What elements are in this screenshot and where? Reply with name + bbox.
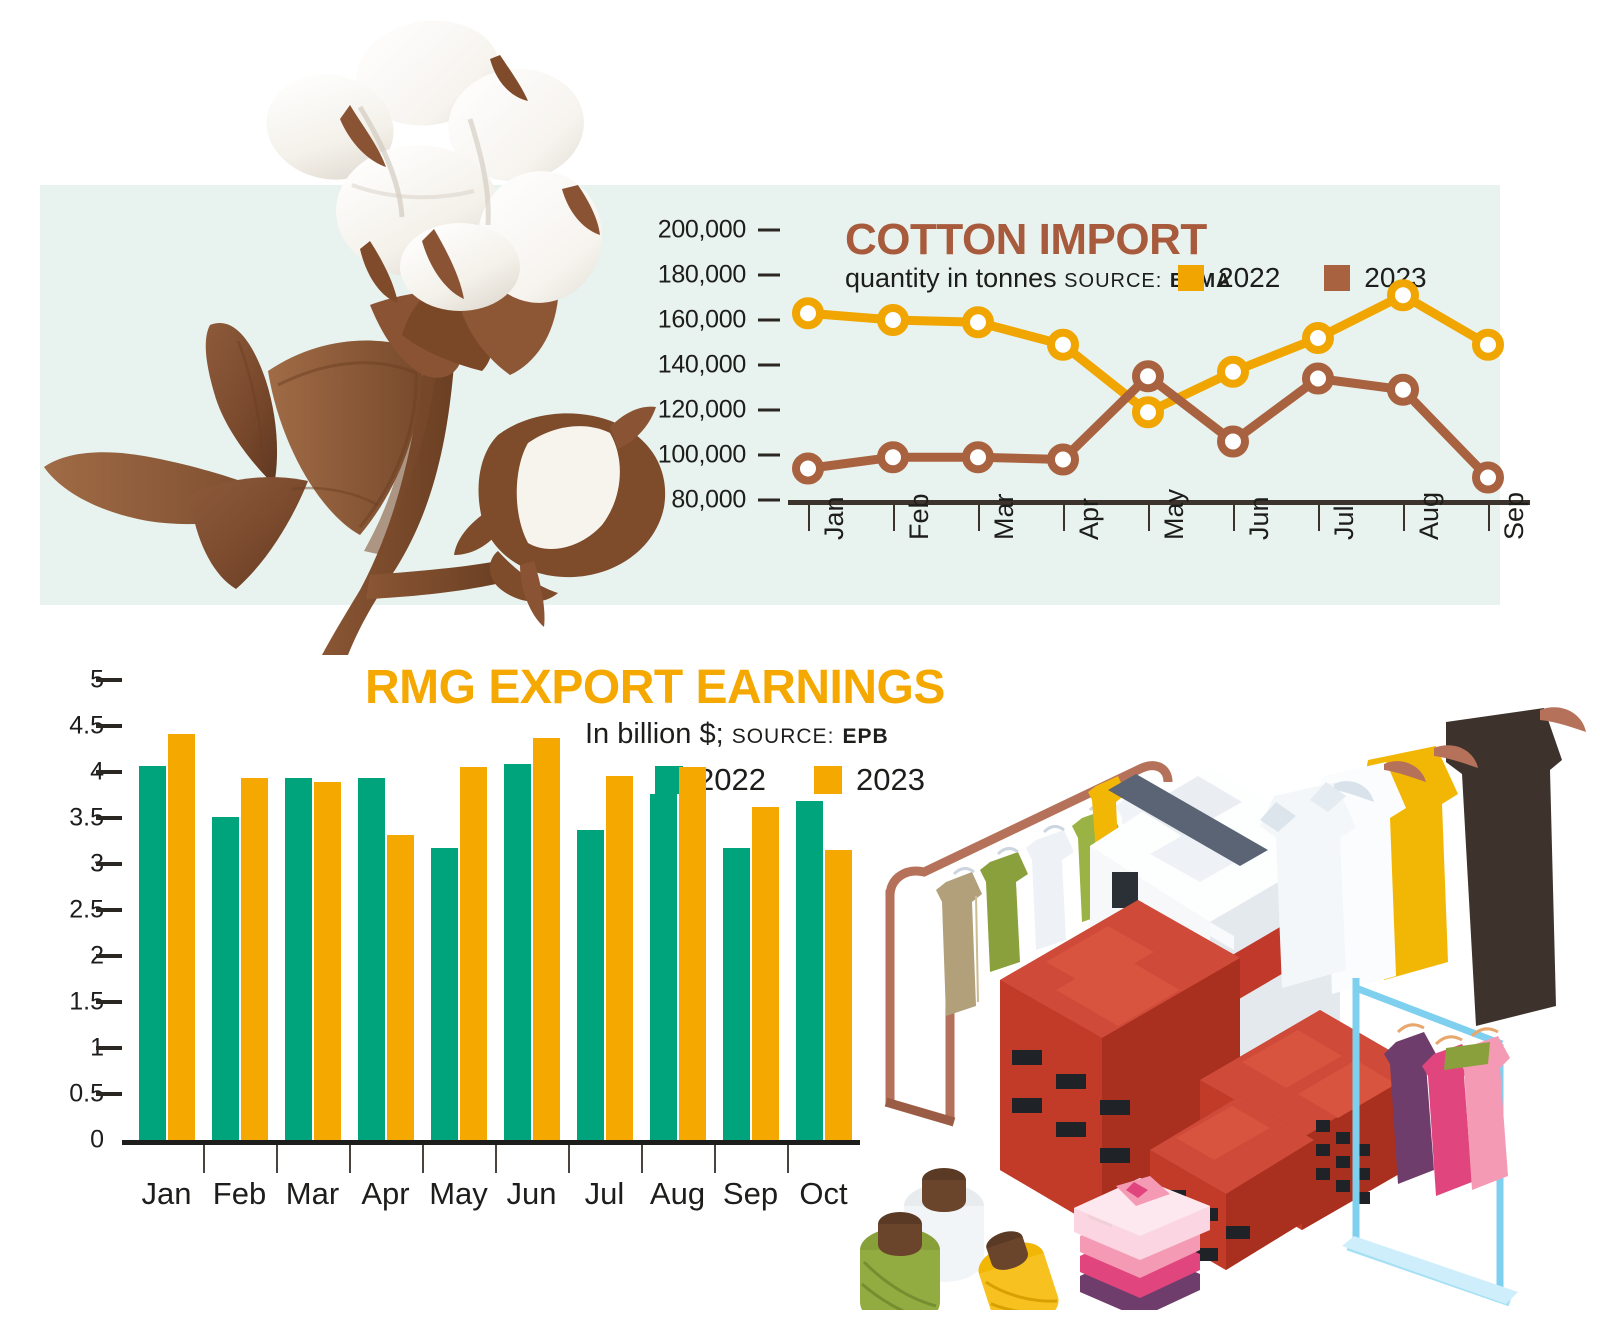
cotton-import-chart: 200,000 180,000 160,000 140,000 120,000 … xyxy=(670,200,1530,570)
x-tick-mark xyxy=(978,505,980,531)
x-tick-label: Jan xyxy=(142,1176,192,1212)
x-tick-label: Jun xyxy=(1244,496,1275,540)
y-tick-mark xyxy=(758,364,780,367)
cotton-point xyxy=(881,445,905,469)
cotton-point xyxy=(796,457,820,481)
y-tick-mark xyxy=(96,1046,122,1050)
x-tick-label: Jan xyxy=(819,496,850,540)
bar-Aug-2022 xyxy=(650,794,677,1140)
y-tick-mark xyxy=(758,229,780,232)
cotton-point xyxy=(1306,326,1330,350)
bar-Aug-2023 xyxy=(679,767,706,1140)
y-tick-mark xyxy=(96,908,122,912)
x-tick-label: Apr xyxy=(1074,498,1105,540)
y-tick-label: 100,000 xyxy=(658,441,746,470)
bar-May-2023 xyxy=(460,767,487,1140)
bar-Jun-2022 xyxy=(504,764,531,1140)
x-tick-label: Jun xyxy=(507,1176,557,1212)
cotton-point xyxy=(966,310,990,334)
bar-Jul-2023 xyxy=(606,776,633,1140)
y-tick-mark xyxy=(96,1092,122,1096)
x-tick-label: Jul xyxy=(585,1176,625,1212)
x-tick-mark xyxy=(1148,505,1150,531)
x-tick-label: Mar xyxy=(286,1176,339,1212)
cotton-point xyxy=(1051,448,1075,472)
x-tick-label: Feb xyxy=(213,1176,266,1212)
x-tick-mark xyxy=(714,1145,716,1173)
x-tick-label: May xyxy=(429,1176,488,1212)
cotton-point xyxy=(1221,360,1245,384)
bar-Jun-2023 xyxy=(533,738,560,1140)
y-tick-mark xyxy=(758,319,780,322)
cotton-plot-area xyxy=(788,200,1528,500)
y-tick-label: 180,000 xyxy=(658,261,746,290)
x-tick-mark xyxy=(203,1145,205,1173)
x-tick-mark xyxy=(1233,505,1235,531)
cotton-plant-illustration xyxy=(30,15,690,655)
x-tick-label: Sep xyxy=(723,1176,778,1212)
cotton-point xyxy=(966,445,990,469)
bar-Apr-2023 xyxy=(387,835,414,1140)
x-tick-mark xyxy=(1063,505,1065,531)
y-tick-mark xyxy=(96,816,122,820)
x-tick-label: Apr xyxy=(361,1176,409,1212)
cotton-line-2022 xyxy=(808,295,1488,412)
y-tick-label: 0 xyxy=(90,1126,104,1155)
x-tick-mark xyxy=(787,1145,789,1173)
y-tick-label: 140,000 xyxy=(658,351,746,380)
bar-Mar-2022 xyxy=(285,778,312,1140)
y-tick-mark xyxy=(758,274,780,277)
x-tick-mark xyxy=(495,1145,497,1173)
bar-Sep-2023 xyxy=(752,807,779,1140)
y-tick-label: 200,000 xyxy=(658,216,746,245)
bar-Jan-2022 xyxy=(139,766,166,1140)
bar-Feb-2022 xyxy=(212,817,239,1140)
x-tick-label: Aug xyxy=(1414,492,1445,540)
cotton-point xyxy=(1136,400,1160,424)
y-tick-mark xyxy=(96,1000,122,1004)
bar-Feb-2023 xyxy=(241,778,268,1140)
cotton-point xyxy=(1221,430,1245,454)
x-tick-mark xyxy=(641,1145,643,1173)
x-tick-mark xyxy=(1403,505,1405,531)
bar-Jul-2022 xyxy=(577,830,604,1140)
cotton-point xyxy=(881,308,905,332)
x-tick-mark xyxy=(893,505,895,531)
cotton-point xyxy=(796,301,820,325)
bar-Jan-2023 xyxy=(168,734,195,1140)
x-tick-mark xyxy=(349,1145,351,1173)
y-tick-mark xyxy=(96,678,122,682)
cotton-point xyxy=(1391,378,1415,402)
x-tick-label: Aug xyxy=(650,1176,705,1212)
y-tick-label: 120,000 xyxy=(658,396,746,425)
rmg-plot-area xyxy=(130,680,860,1140)
x-tick-mark xyxy=(1488,505,1490,531)
rmg-x-axis-line xyxy=(122,1140,860,1145)
x-tick-label: Feb xyxy=(904,493,935,540)
bar-Sep-2022 xyxy=(723,848,750,1140)
y-tick-mark xyxy=(758,409,780,412)
y-tick-mark xyxy=(96,770,122,774)
y-tick-label: 80,000 xyxy=(671,486,746,515)
y-tick-mark xyxy=(96,954,122,958)
cotton-point xyxy=(1306,367,1330,391)
y-tick-mark xyxy=(96,724,122,728)
bar-Mar-2023 xyxy=(314,782,341,1140)
y-tick-mark xyxy=(758,454,780,457)
bar-Apr-2022 xyxy=(358,778,385,1140)
garment-factory-illustration xyxy=(850,650,1600,1310)
x-tick-label: Jul xyxy=(1329,505,1360,540)
y-tick-mark xyxy=(758,499,780,502)
cotton-point xyxy=(1476,466,1500,490)
bar-Oct-2023 xyxy=(825,850,852,1140)
x-tick-mark xyxy=(568,1145,570,1173)
cotton-point xyxy=(1391,283,1415,307)
x-tick-label: Mar xyxy=(989,494,1020,541)
y-tick-mark xyxy=(96,862,122,866)
x-tick-label: Oct xyxy=(799,1176,847,1212)
y-tick-label: 160,000 xyxy=(658,306,746,335)
cotton-y-axis: 200,000 180,000 160,000 140,000 120,000 … xyxy=(670,200,780,500)
bar-Oct-2022 xyxy=(796,801,823,1140)
cotton-point xyxy=(1136,364,1160,388)
x-tick-mark xyxy=(422,1145,424,1173)
cotton-point xyxy=(1051,333,1075,357)
x-tick-mark xyxy=(1318,505,1320,531)
x-tick-mark xyxy=(276,1145,278,1173)
bar-May-2022 xyxy=(431,848,458,1140)
rmg-export-chart: RMG EXPORT EARNINGS In billion $; SOURCE… xyxy=(30,660,860,1260)
x-tick-mark xyxy=(808,505,810,531)
x-tick-label: May xyxy=(1159,489,1190,540)
cotton-point xyxy=(1476,333,1500,357)
x-tick-label: Sep xyxy=(1499,492,1530,540)
